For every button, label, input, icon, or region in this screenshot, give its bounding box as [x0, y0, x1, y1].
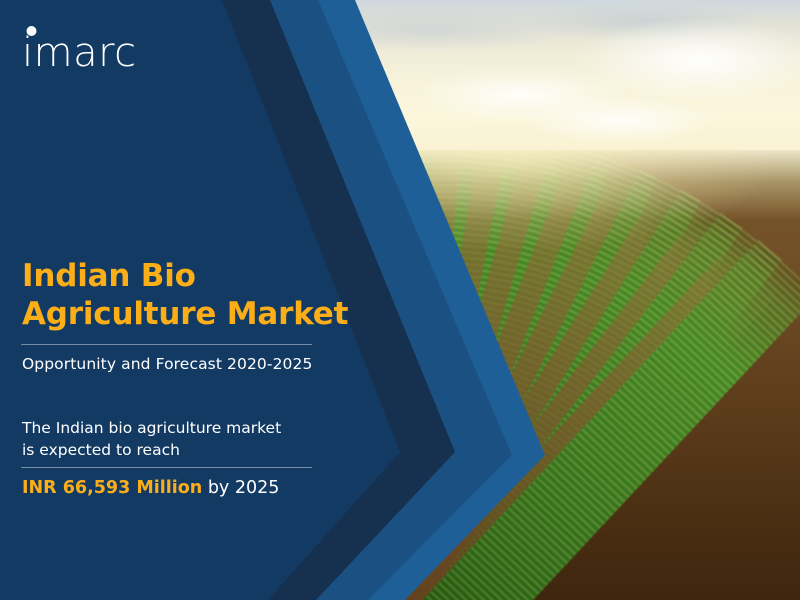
- market-value-amount: INR 66,593 Million: [22, 478, 202, 498]
- divider-above-value: [21, 467, 312, 468]
- logo-wordmark: imarc: [22, 30, 137, 70]
- title-line-2: Agriculture Market: [22, 296, 382, 334]
- imarc-logo[interactable]: imarc: [22, 24, 152, 70]
- cover-content: imarc Indian Bio Agriculture Market Oppo…: [0, 0, 800, 600]
- lead-line-2: is expected to reach: [22, 439, 372, 461]
- market-value-suffix: by 2025: [202, 478, 279, 498]
- report-cover-banner: imarc Indian Bio Agriculture Market Oppo…: [0, 0, 800, 600]
- page-title: Indian Bio Agriculture Market: [22, 258, 382, 334]
- lead-statement: The Indian bio agriculture market is exp…: [22, 417, 372, 462]
- market-value-statement: INR 66,593 Million by 2025: [22, 478, 279, 498]
- title-line-1: Indian Bio: [22, 258, 382, 296]
- imarc-logo-mark: imarc: [22, 24, 152, 70]
- report-subtitle: Opportunity and Forecast 2020-2025: [22, 355, 312, 373]
- divider-above-subtitle: [21, 344, 312, 345]
- lead-line-1: The Indian bio agriculture market: [22, 417, 372, 439]
